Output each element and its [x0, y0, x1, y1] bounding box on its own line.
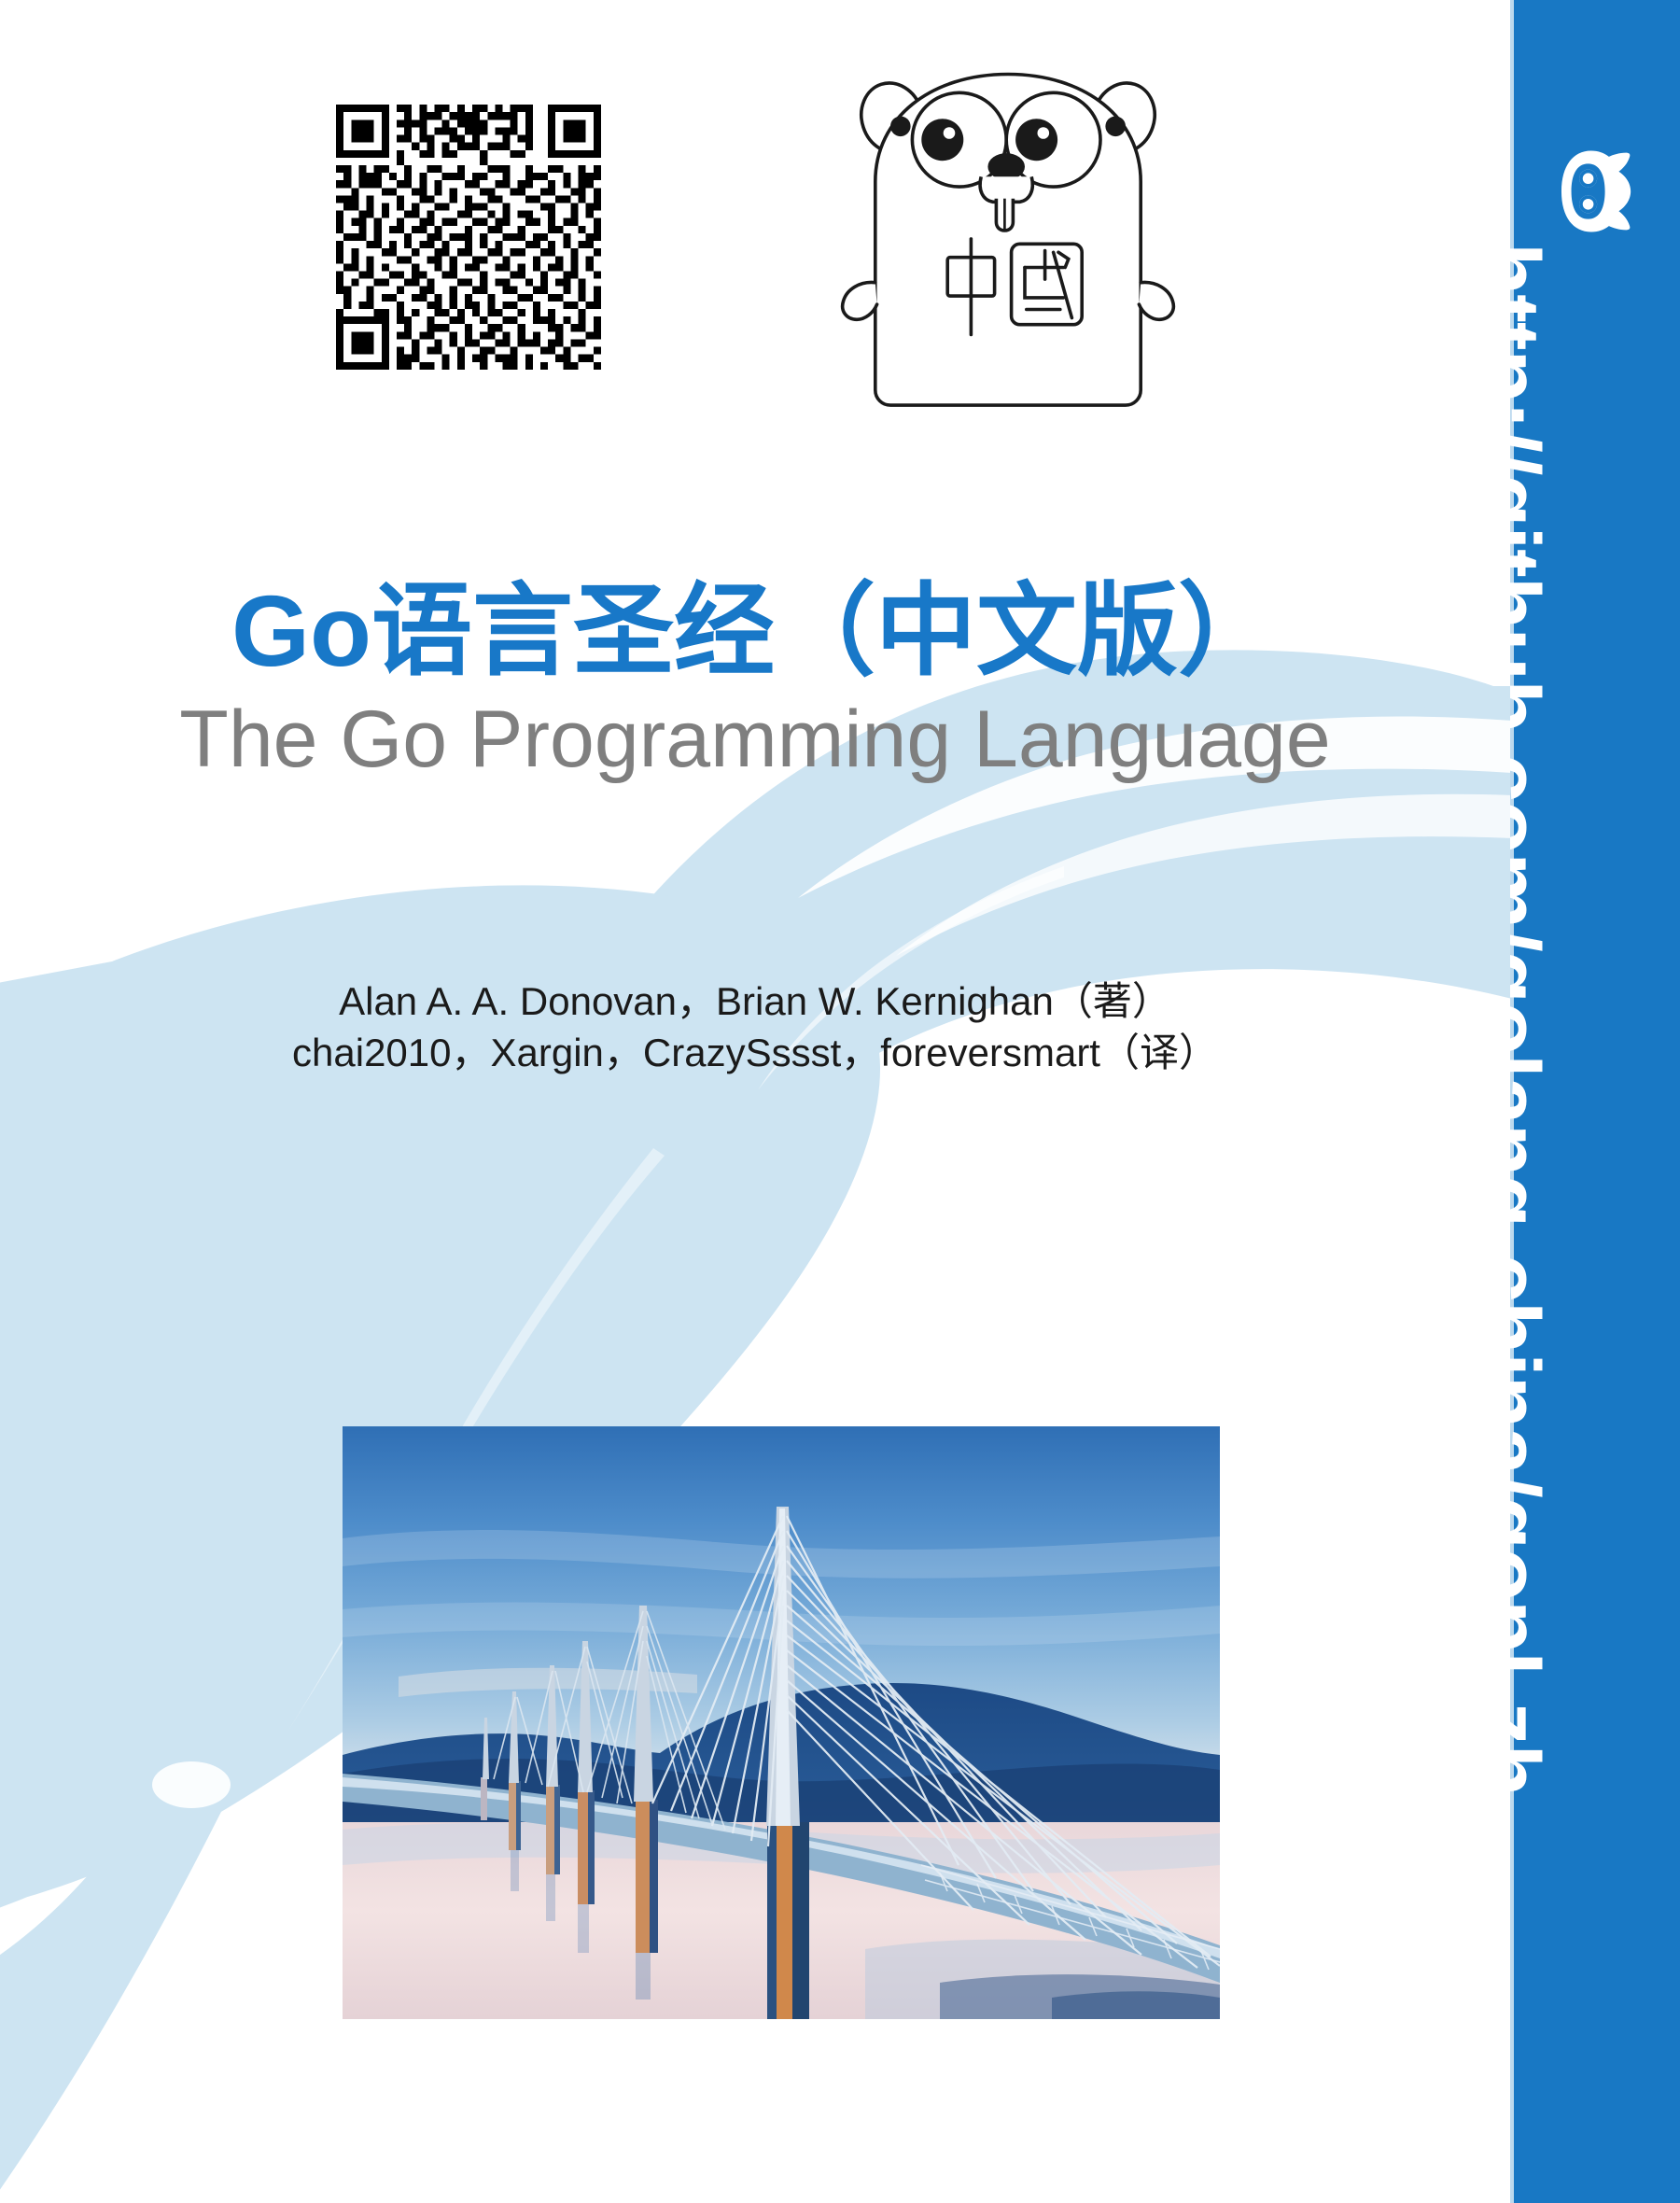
- authors-block: Alan A. A. Donovan，Brian W. Kernighan（著）…: [0, 975, 1510, 1079]
- go-gopher-icon: [840, 51, 1176, 425]
- page-title: Go语言圣经（中文版）: [0, 577, 1510, 686]
- repo-url-label[interactable]: http://github.com/golang-china/gopl-zh: [1510, 243, 1552, 1796]
- title-block: Go语言圣经（中文版） The Go Programming Language: [0, 577, 1510, 783]
- github-band: http://github.com/golang-china/gopl-zh: [1510, 0, 1680, 2203]
- github-icon[interactable]: [1546, 142, 1645, 241]
- cover-photo: [343, 1426, 1220, 2019]
- book-cover: Go语言圣经（中文版） The Go Programming Language …: [0, 0, 1680, 2203]
- authors-line: Alan A. A. Donovan，Brian W. Kernighan（著）: [0, 975, 1510, 1027]
- qr-code-icon[interactable]: [329, 97, 609, 377]
- page-subtitle: The Go Programming Language: [0, 695, 1510, 784]
- translators-line: chai2010，Xargin，CrazySssst，foreversmart（…: [0, 1027, 1510, 1078]
